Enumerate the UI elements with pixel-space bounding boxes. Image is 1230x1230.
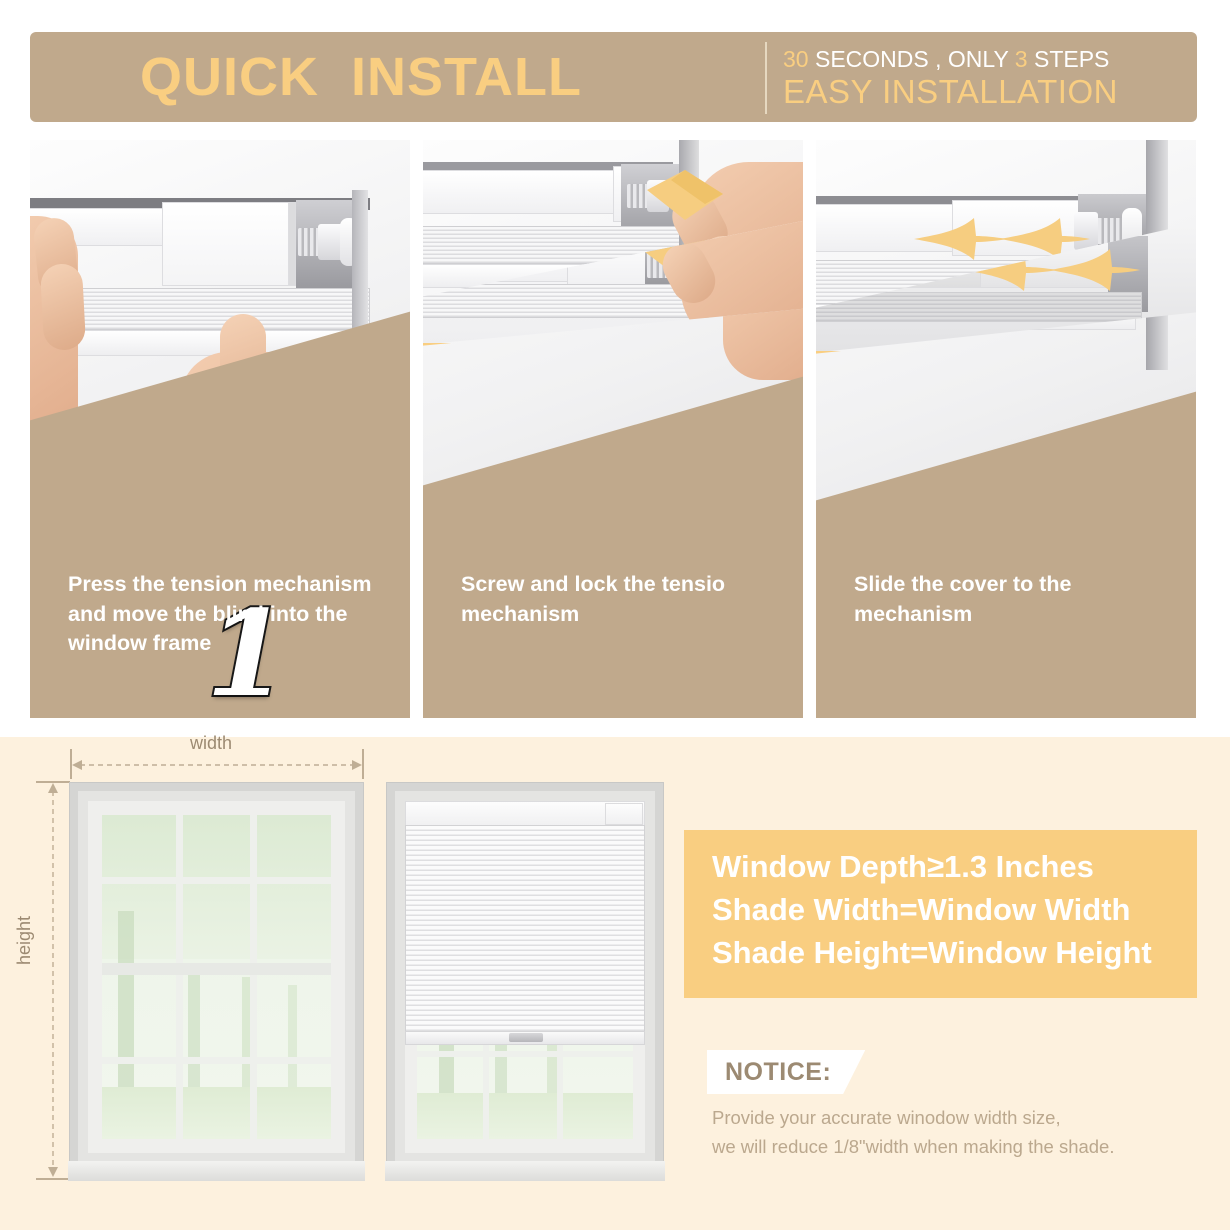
shade-fabric (405, 825, 645, 1033)
spec-line-1: Window Depth≥1.3 Inches (712, 846, 1197, 889)
notice-line-2: we will reduce 1/8"width when making the… (712, 1132, 1182, 1161)
seconds-text: SECONDS , ONLY (809, 46, 1015, 72)
width-arrow-icon (72, 757, 362, 773)
yellow-tape-icon (645, 168, 725, 238)
window-with-shade (387, 783, 663, 1179)
header-bar: QUICK INSTALL 30 SECONDS , ONLY 3 STEPS … (30, 32, 1197, 122)
spec-line-2: Shade Width=Window Width (712, 889, 1197, 932)
window-1-glass (102, 815, 331, 1139)
step-card-1: 1 Press the tension mechanism and move t… (30, 140, 410, 718)
notice-body: Provide your accurate winodow width size… (712, 1103, 1182, 1161)
shade-headrail-endcap (605, 803, 643, 825)
steps-count: 3 (1015, 46, 1028, 72)
quick-install-section: QUICK INSTALL 30 SECONDS , ONLY 3 STEPS … (0, 0, 1230, 737)
header-subtitle-line1: 30 SECONDS , ONLY 3 STEPS (783, 45, 1118, 74)
shade-grip-handle (509, 1033, 543, 1042)
height-label: height (14, 916, 35, 965)
step-1-caption: Press the tension mechanism and move the… (30, 570, 410, 659)
notice-tag: NOTICE: (707, 1050, 865, 1094)
step-3-photo (816, 140, 1196, 560)
step-2-photo (423, 140, 803, 560)
seconds-count: 30 (783, 46, 809, 72)
step-3-caption-text: Slide the cover to the mechanism (854, 570, 1158, 629)
page-title: QUICK INSTALL (140, 50, 582, 104)
width-label: width (190, 733, 232, 754)
spec-line-3: Shade Height=Window Height (712, 932, 1197, 975)
window-without-shade (70, 783, 363, 1179)
width-tick-right (362, 749, 364, 779)
steps-text: STEPS (1028, 46, 1110, 72)
header-subtitle-group: 30 SECONDS , ONLY 3 STEPS EASY INSTALLAT… (765, 42, 1118, 114)
header-subtitle-line2: EASY INSTALLATION (783, 73, 1118, 111)
notice-line-1: Provide your accurate winodow width size… (712, 1103, 1182, 1132)
step-2-caption: Screw and lock the tensio mechanism (423, 570, 803, 629)
window-2-sill (385, 1161, 665, 1181)
notice-tag-label: NOTICE: (725, 1058, 831, 1087)
step-2-caption-text: Screw and lock the tensio mechanism (461, 570, 765, 629)
steps-row: 1 Press the tension mechanism and move t… (30, 140, 1197, 718)
height-arrow-icon (45, 783, 61, 1177)
step-card-2: 2 Screw and lock the tensio mechanism (423, 140, 803, 718)
step-card-3: 3 Slide the cover to the mechanism (816, 140, 1196, 718)
window-1-sill (68, 1161, 365, 1181)
spec-callout-box: Window Depth≥1.3 Inches Shade Width=Wind… (684, 830, 1197, 998)
step-1-photo (30, 140, 410, 560)
height-tick-bottom (36, 1178, 70, 1180)
step-1-caption-text: Press the tension mechanism and move the… (68, 570, 372, 659)
step-3-caption: Slide the cover to the mechanism (816, 570, 1196, 629)
